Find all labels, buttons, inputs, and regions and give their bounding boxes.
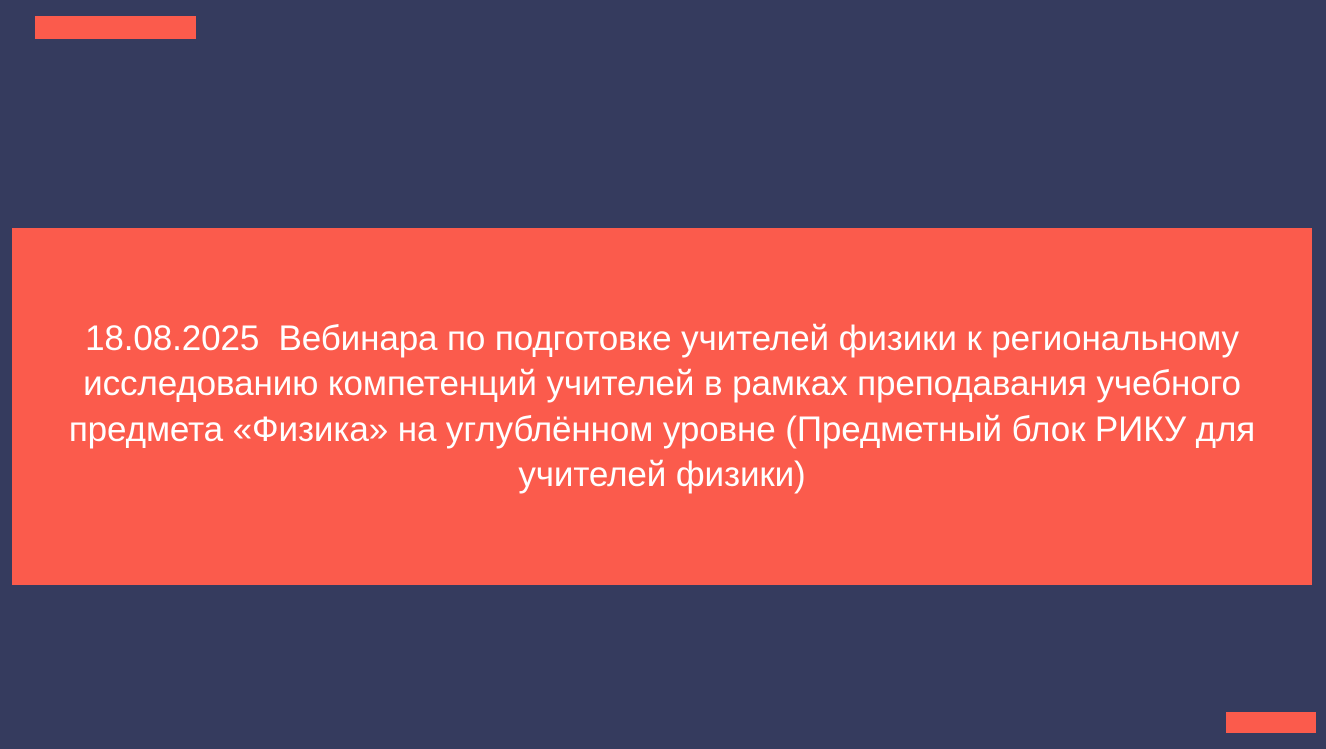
title-panel: 18.08.2025 Вебинара по подготовке учител… (12, 228, 1312, 585)
page-title: 18.08.2025 Вебинара по подготовке учител… (40, 316, 1284, 498)
accent-bar-top-left (35, 16, 196, 39)
accent-bar-bottom-right (1226, 712, 1316, 733)
presentation-slide: 18.08.2025 Вебинара по подготовке учител… (0, 0, 1326, 749)
